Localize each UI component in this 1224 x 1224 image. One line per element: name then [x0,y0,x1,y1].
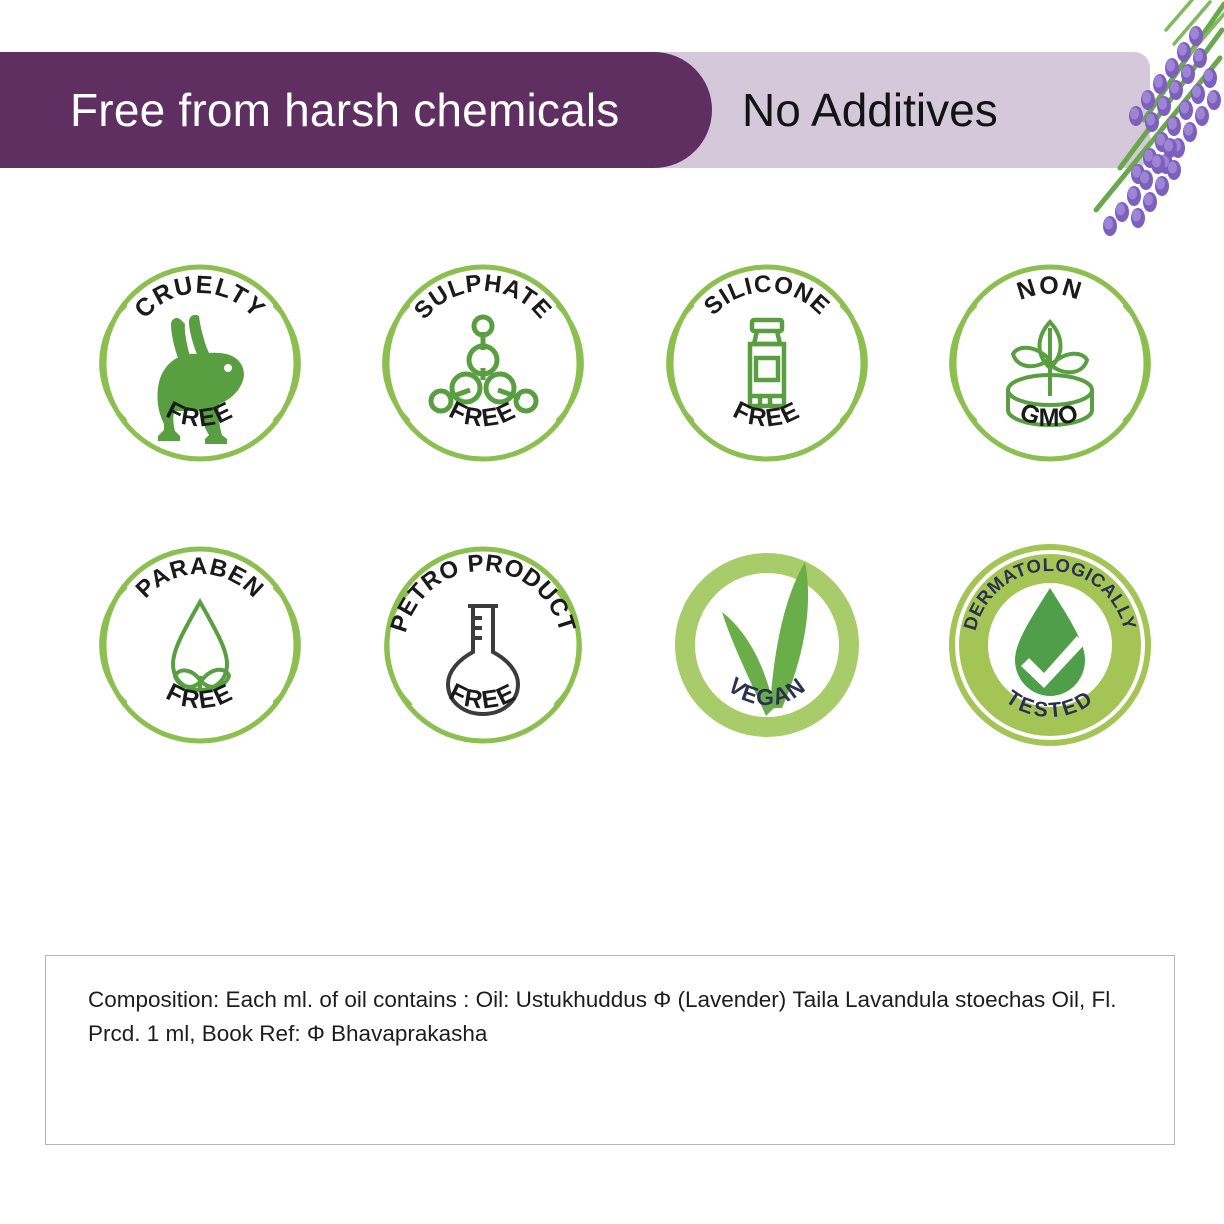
tube-icon [750,320,784,406]
badge-bottom-text: VEGAN [723,672,810,710]
banner-secondary-label: No Additives [742,52,998,168]
header-banner: Free from harsh chemicals No Additives [0,52,1224,168]
composition-box: Composition: Each ml. of oil contains : … [45,955,1175,1145]
badge-bottom-text: FREE [445,396,521,433]
svg-text:PETRO PRODUCT: PETRO PRODUCT [385,550,580,636]
badge-dermatologically-tested: DERMATOLOGICALLY TESTED [945,540,1155,750]
badge-paraben-free: PARABEN FREE [95,540,305,750]
droplet-leaf-icon [173,602,229,692]
banner-primary-label: Free from harsh chemicals [70,52,620,168]
badge-bottom-text: GMO [1016,398,1084,432]
svg-text:VEGAN: VEGAN [723,672,810,710]
svg-text:FREE: FREE [729,396,805,433]
svg-text:NON: NON [1014,272,1087,306]
badge-sulphate-free: SULPHATE FREE [378,258,588,468]
badge-cruelty-free: CRUELTY FREE [95,258,305,468]
badge-bottom-text: FREE [729,396,805,433]
composition-text: Composition: Each ml. of oil contains : … [88,983,1143,1051]
svg-text:FREE: FREE [445,678,521,715]
certification-badge-grid: CRUELTY FREE [0,248,1224,768]
badge-bottom-text: FREE [445,678,521,715]
svg-text:GMO: GMO [1016,398,1084,432]
badge-top-text: NON [1014,272,1087,306]
badge-top-text: PETRO PRODUCT [385,550,580,636]
svg-text:FREE: FREE [445,396,521,433]
molecule-icon [431,317,536,411]
badge-vegan: VEGAN [662,540,872,750]
badge-petro-product-free: PETRO PRODUCT FREE [378,540,588,750]
badge-silicone-free: SILICONE FREE [662,258,872,468]
badge-non-gmo: NON GMO [945,258,1155,468]
